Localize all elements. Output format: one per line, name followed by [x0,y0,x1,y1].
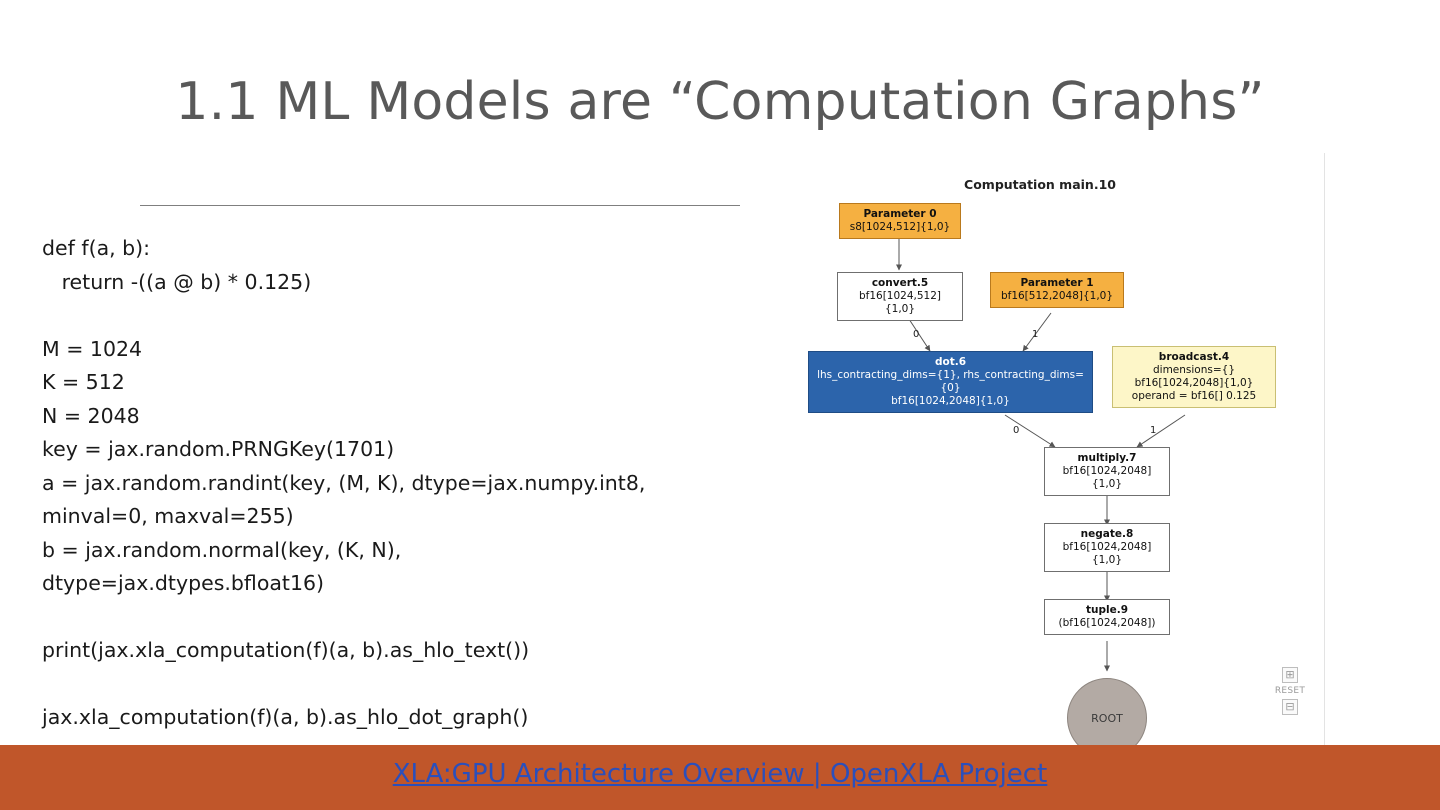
node-tuple-9-shape: (bf16[1024,2048]) [1051,617,1163,630]
node-dot-6-dims: lhs_contracting_dims={1}, rhs_contractin… [815,369,1086,395]
node-tuple-9-title: tuple.9 [1051,604,1163,617]
node-dot-6-title: dot.6 [815,356,1086,369]
node-dot-6[interactable]: dot.6 lhs_contracting_dims={1}, rhs_cont… [808,351,1093,413]
zoom-reset-button[interactable]: RESET [1273,686,1307,696]
code-snippet: def f(a, b): return -((a @ b) * 0.125) M… [42,232,732,735]
graph-edges [755,153,1325,753]
node-convert-5-shape: bf16[1024,512]{1,0} [844,290,956,316]
node-negate-8-title: negate.8 [1051,528,1163,541]
footer-link[interactable]: XLA:GPU Architecture Overview | OpenXLA … [0,759,1440,789]
edge-label-dot-in1: 1 [1032,329,1038,340]
page-title: 1.1 ML Models are “Computation Graphs” [60,72,1380,132]
footer-bar: XLA:GPU Architecture Overview | OpenXLA … [0,745,1440,810]
node-convert-5[interactable]: convert.5 bf16[1024,512]{1,0} [837,272,963,321]
node-broadcast-4-title: broadcast.4 [1119,351,1269,364]
zoom-in-icon[interactable]: ⊞ [1282,667,1298,683]
node-root[interactable]: ROOT [1067,678,1147,753]
node-broadcast-4-dimensions: dimensions={} [1119,364,1269,377]
node-parameter-1[interactable]: Parameter 1 bf16[512,2048]{1,0} [990,272,1124,308]
hlo-graph-panel: Computation main.10 Parameter 0 s8[1024,… [755,153,1325,753]
node-parameter-0-shape: s8[1024,512]{1,0} [846,221,954,234]
node-convert-5-title: convert.5 [844,277,956,290]
edge-label-multiply-in1: 1 [1150,425,1156,436]
node-parameter-1-title: Parameter 1 [997,277,1117,290]
node-multiply-7-title: multiply.7 [1051,452,1163,465]
node-negate-8[interactable]: negate.8 bf16[1024,2048]{1,0} [1044,523,1170,572]
graph-zoom-controls[interactable]: ⊞ RESET ⊟ [1273,667,1307,715]
node-root-label: ROOT [1091,712,1123,725]
node-broadcast-4[interactable]: broadcast.4 dimensions={} bf16[1024,2048… [1112,346,1276,408]
panel-right-border [1324,153,1325,753]
title-divider [140,205,740,206]
node-broadcast-4-operand: operand = bf16[] 0.125 [1119,390,1269,403]
node-multiply-7[interactable]: multiply.7 bf16[1024,2048]{1,0} [1044,447,1170,496]
node-dot-6-shape: bf16[1024,2048]{1,0} [815,395,1086,408]
node-broadcast-4-shape: bf16[1024,2048]{1,0} [1119,377,1269,390]
edge-label-multiply-in0: 0 [1013,425,1019,436]
node-parameter-1-shape: bf16[512,2048]{1,0} [997,290,1117,303]
node-parameter-0[interactable]: Parameter 0 s8[1024,512]{1,0} [839,203,961,239]
node-tuple-9[interactable]: tuple.9 (bf16[1024,2048]) [1044,599,1170,635]
node-negate-8-shape: bf16[1024,2048]{1,0} [1051,541,1163,567]
zoom-out-icon[interactable]: ⊟ [1282,699,1298,715]
node-multiply-7-shape: bf16[1024,2048]{1,0} [1051,465,1163,491]
edge-label-dot-in0: 0 [913,329,919,340]
node-parameter-0-title: Parameter 0 [846,208,954,221]
